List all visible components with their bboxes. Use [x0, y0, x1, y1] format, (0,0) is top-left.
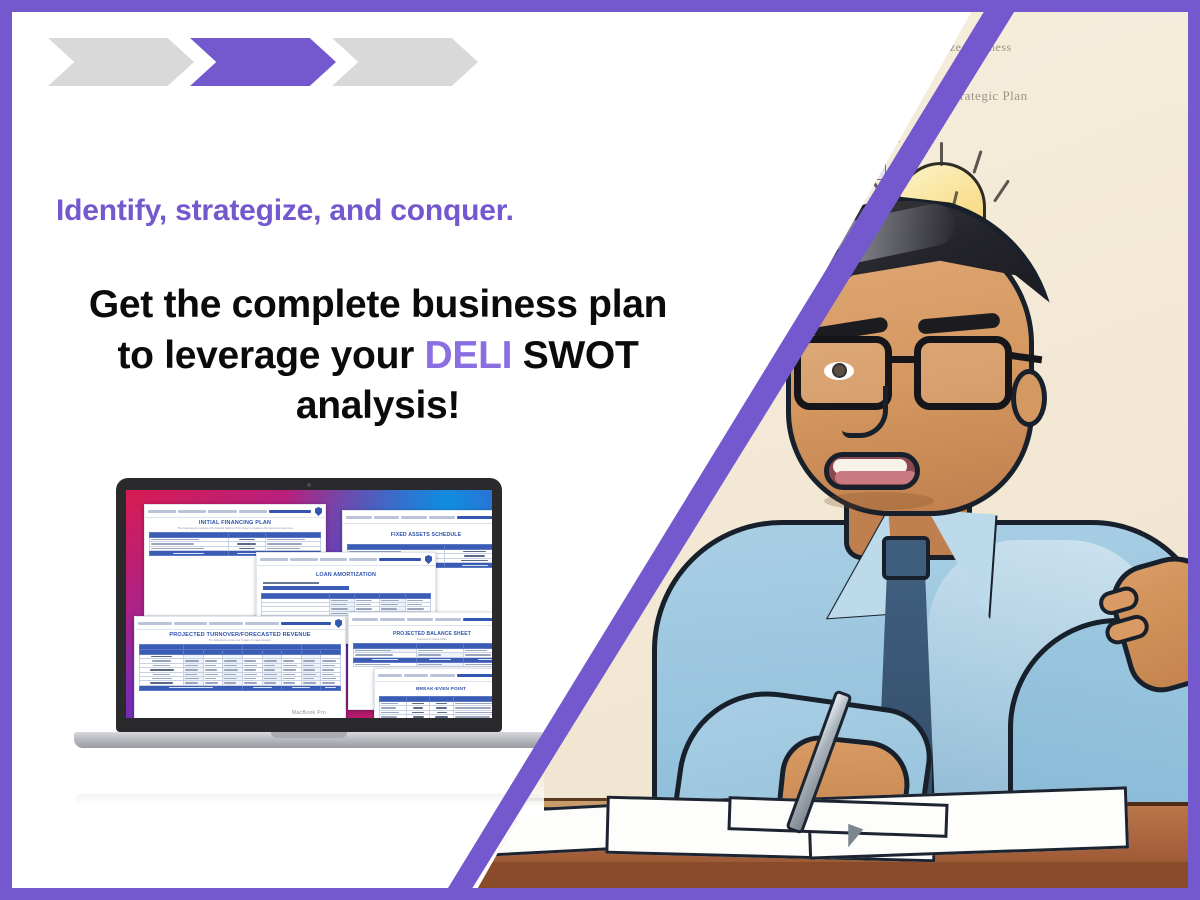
webcam-icon [307, 483, 311, 487]
chevron-step-3[interactable] [332, 38, 478, 86]
doc-title: PROJECTED TURNOVER/FORECASTED REVENUE [135, 630, 345, 639]
doc-table [139, 644, 341, 691]
doc-nav [145, 505, 325, 518]
headline-line-1: Get the complete business plan [89, 283, 667, 326]
headline-line-3: analysis! [296, 384, 460, 427]
tie-knot [882, 536, 930, 580]
board-note-card [726, 30, 886, 180]
shield-icon [315, 507, 322, 516]
laptop-notch [271, 732, 347, 738]
doc-nav [375, 669, 492, 682]
board-line [734, 62, 762, 63]
board-sketch [620, 24, 674, 64]
doc-title: PROJECTED BALANCE SHEET [349, 626, 492, 638]
slide-canvas: SWOT ANALYSIS STRENGTHS GOALS Analyze Bu… [12, 12, 1188, 888]
mouth [824, 452, 920, 490]
left-content: Identify, strategize, and conquer. Get t… [12, 12, 612, 888]
board-note-text: SWOT ANALYSIS [774, 52, 878, 67]
collar-right [920, 510, 995, 618]
doc-title: FIXED ASSETS SCHEDULE [343, 524, 492, 539]
chevron-step-2[interactable] [190, 38, 336, 86]
board-sketch [702, 94, 716, 120]
slide-frame: SWOT ANALYSIS STRENGTHS GOALS Analyze Bu… [0, 0, 1200, 900]
doc-title: INITIAL FINANCING PLAN [145, 518, 325, 527]
board-line [736, 142, 886, 143]
doc-nav [349, 613, 492, 626]
board-line [820, 96, 882, 97]
board-sketch [610, 54, 706, 126]
board-line [638, 234, 674, 235]
board-line [618, 82, 676, 83]
board-line [790, 112, 814, 118]
doc-nav [343, 511, 492, 524]
chevron-step-1[interactable] [48, 38, 194, 86]
doc-label [263, 582, 319, 584]
headline-line-2-after: SWOT [512, 334, 638, 377]
page-title: Get the complete business plan to levera… [48, 280, 708, 432]
shield-icon [425, 555, 432, 564]
headline-line-2-before: to leverage your [118, 334, 425, 377]
board-sketch [870, 12, 900, 142]
board-sketch [690, 98, 702, 120]
doc-title: LOAN AMORTIZATION [257, 566, 435, 579]
doc-table [353, 643, 492, 667]
board-line [618, 94, 684, 95]
headline-highlight: DELI [425, 334, 513, 377]
laptop-mockup: INITIAL FINANCING PLAN The financing pla… [74, 478, 544, 808]
glasses-icon [794, 336, 1026, 410]
eyebrow-text: Identify, strategize, and conquer. [56, 194, 696, 228]
doc-projected-turnover[interactable]: PROJECTED TURNOVER/FORECASTED REVENUE Th… [134, 616, 346, 718]
laptop-base [74, 732, 544, 748]
board-line [618, 70, 690, 71]
doc-input [263, 586, 349, 590]
doc-title: BREAK-EVEN POINT [375, 682, 492, 693]
board-note-text: STRENGTHS [776, 68, 844, 80]
reflection-fade [74, 770, 544, 816]
board-sketch [598, 20, 698, 82]
shield-icon [335, 619, 342, 628]
doc-nav [257, 553, 435, 566]
person-figure [628, 140, 1188, 888]
chin-shading [824, 492, 934, 510]
laptop-screen: INITIAL FINANCING PLAN The financing pla… [126, 490, 492, 718]
board-note-text: GOALS [788, 86, 824, 97]
doc-nav [135, 617, 345, 630]
laptop-model-label: MacBook Pro [126, 710, 492, 716]
laptop-lid: INITIAL FINANCING PLAN The financing pla… [116, 478, 502, 732]
board-sketch [692, 124, 702, 142]
board-line [780, 182, 866, 183]
board-line [736, 118, 882, 119]
